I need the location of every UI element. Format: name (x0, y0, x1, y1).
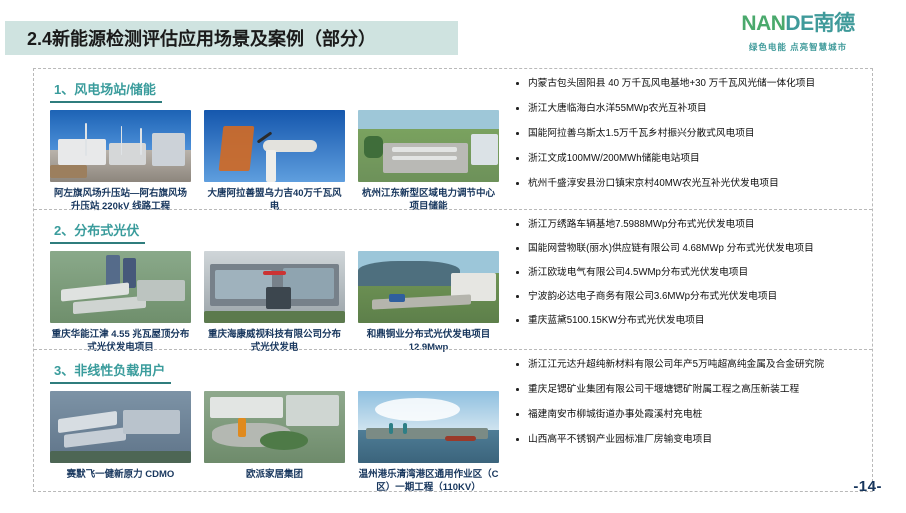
section-2-heading: 2、分布式光伏 (50, 220, 145, 244)
section-2-gallery: 2、分布式光伏 重庆华能江津 4.55 兆瓦屋顶分布式光伏发电项目 (34, 210, 494, 349)
section-1-gallery: 1、风电场站/储能 阿左旗风场升压站—阿右旗风场升压站 220kV 线路工程 (34, 69, 494, 209)
card-caption: 温州港乐清湾港区通用作业区（C 区）一期工程（110KV） (358, 468, 499, 494)
slide-title-bar: 2.4新能源检测评估应用场景及案例（部分） (5, 21, 458, 55)
section-1-cards: 阿左旗风场升压站—阿右旗风场升压站 220kV 线路工程 大唐阿拉善盟乌力吉40… (50, 110, 494, 213)
section-3-gallery: 3、非线性负载用户 赛默飞一健新原力 CDMO (34, 350, 494, 491)
section-wind-storage: 1、风电场站/储能 阿左旗风场升压站—阿右旗风场升压站 220kV 线路工程 (34, 69, 872, 209)
industrial-aerial-photo (50, 251, 191, 323)
card[interactable]: 和鼎铜业分布式光伏发电项目12.9Mwp (358, 251, 499, 354)
brand-tagline: 绿色电能 点亮智慧城市 (708, 41, 888, 53)
brand-latin-first: NAN (741, 12, 785, 35)
section-1-bullets: 内蒙古包头固阳县 40 万千瓦风电基地+30 万千瓦风光储一体化项目 浙江大唐临… (494, 69, 872, 209)
list-item: 山西高平不锈钢产业园标准厂房输变电项目 (512, 433, 872, 446)
list-item: 浙江万绣路车辆基地7.5988MWp分布式光伏发电项目 (512, 218, 872, 231)
list-item: 国能阿拉善乌斯太1.5万千瓦乡村振兴分散式风电项目 (512, 127, 872, 140)
bullet-list: 浙江江元达升超纯新材料有限公司年产5万吨超高纯金属及合金研究院 重庆足锶矿业集团… (512, 358, 872, 446)
section-3-bullets: 浙江江元达升超纯新材料有限公司年产5万吨超高纯金属及合金研究院 重庆足锶矿业集团… (494, 350, 872, 491)
card[interactable]: 赛默飞一健新原力 CDMO (50, 391, 191, 494)
card-caption: 赛默飞一健新原力 CDMO (50, 468, 191, 481)
section-3-cards: 赛默飞一健新原力 CDMO 欧派家居集团 (50, 391, 494, 494)
list-item: 宁波韵必达电子商务有限公司3.6MWp分布式光伏发电项目 (512, 290, 872, 303)
energy-storage-site-photo (358, 110, 499, 182)
list-item: 浙江江元达升超纯新材料有限公司年产5万吨超高纯金属及合金研究院 (512, 358, 872, 371)
section-2-cards: 重庆华能江津 4.55 兆瓦屋顶分布式光伏发电项目 重庆海康威视科技有限公司分布… (50, 251, 494, 354)
list-item: 浙江大唐临海白水洋55MWp农光互补项目 (512, 102, 872, 115)
list-item: 杭州千盛淳安县汾口镇宋京村40MW农光互补光伏发电项目 (512, 177, 872, 190)
card[interactable]: 杭州江东新型区域电力调节中心项目储能 (358, 110, 499, 213)
brand-latin-second: DE (785, 12, 813, 35)
wind-turbine-photo (204, 110, 345, 182)
furniture-factory-photo (204, 391, 345, 463)
page-number: -14- (853, 478, 882, 495)
section-1-heading: 1、风电场站/储能 (50, 79, 162, 103)
list-item: 国能网营物联(丽水)供应链有限公司 4.68MWp 分布式光伏发电项目 (512, 242, 872, 255)
card[interactable]: 阿左旗风场升压站—阿右旗风场升压站 220kV 线路工程 (50, 110, 191, 213)
list-item: 内蒙古包头固阳县 40 万千瓦风电基地+30 万千瓦风光储一体化项目 (512, 77, 872, 90)
pharma-campus-photo (50, 391, 191, 463)
brand-wordmark: NANDE南德 (708, 12, 888, 36)
card[interactable]: 欧派家居集团 (204, 391, 345, 494)
card[interactable]: 重庆华能江津 4.55 兆瓦屋顶分布式光伏发电项目 (50, 251, 191, 354)
brand-cjk: 南德 (814, 12, 855, 35)
section-distributed-pv: 2、分布式光伏 重庆华能江津 4.55 兆瓦屋顶分布式光伏发电项目 (34, 209, 872, 349)
campus-hills-photo (358, 251, 499, 323)
section-3-heading: 3、非线性负载用户 (50, 360, 171, 384)
substation-photo (50, 110, 191, 182)
section-nonlinear-load: 3、非线性负载用户 赛默飞一健新原力 CDMO (34, 349, 872, 491)
list-item: 福建南安市柳城街道办事处霞溪村充电桩 (512, 408, 872, 421)
content-frame: 1、风电场站/储能 阿左旗风场升压站—阿右旗风场升压站 220kV 线路工程 (33, 68, 873, 492)
page-title: 2.4新能源检测评估应用场景及案例（部分） (5, 25, 376, 51)
port-terminal-photo (358, 391, 499, 463)
list-item: 浙江欧珑电气有限公司4.5WMp分布式光伏发电项目 (512, 266, 872, 279)
list-item: 重庆足锶矿业集团有限公司干堰塘锶矿附属工程之高压新装工程 (512, 383, 872, 396)
brand-logo: NANDE南德 绿色电能 点亮智慧城市 (708, 12, 888, 53)
card[interactable]: 重庆海康威视科技有限公司分布式光伏发电 (204, 251, 345, 354)
bullet-list: 浙江万绣路车辆基地7.5988MWp分布式光伏发电项目 国能网营物联(丽水)供应… (512, 218, 872, 327)
card-caption: 欧派家居集团 (204, 468, 345, 481)
slide: 2.4新能源检测评估应用场景及案例（部分） NANDE南德 绿色电能 点亮智慧城… (0, 0, 906, 513)
card[interactable]: 大唐阿拉善盟乌力吉40万千瓦风电 (204, 110, 345, 213)
section-2-bullets: 浙江万绣路车辆基地7.5988MWp分布式光伏发电项目 国能网营物联(丽水)供应… (494, 210, 872, 349)
card[interactable]: 温州港乐清湾港区通用作业区（C 区）一期工程（110KV） (358, 391, 499, 494)
list-item: 浙江文成100MW/200MWh储能电站项目 (512, 152, 872, 165)
office-building-photo (204, 251, 345, 323)
bullet-list: 内蒙古包头固阳县 40 万千瓦风电基地+30 万千瓦风光储一体化项目 浙江大唐临… (512, 77, 872, 190)
list-item: 重庆蓝黛5100.15KW分布式光伏发电项目 (512, 314, 872, 327)
